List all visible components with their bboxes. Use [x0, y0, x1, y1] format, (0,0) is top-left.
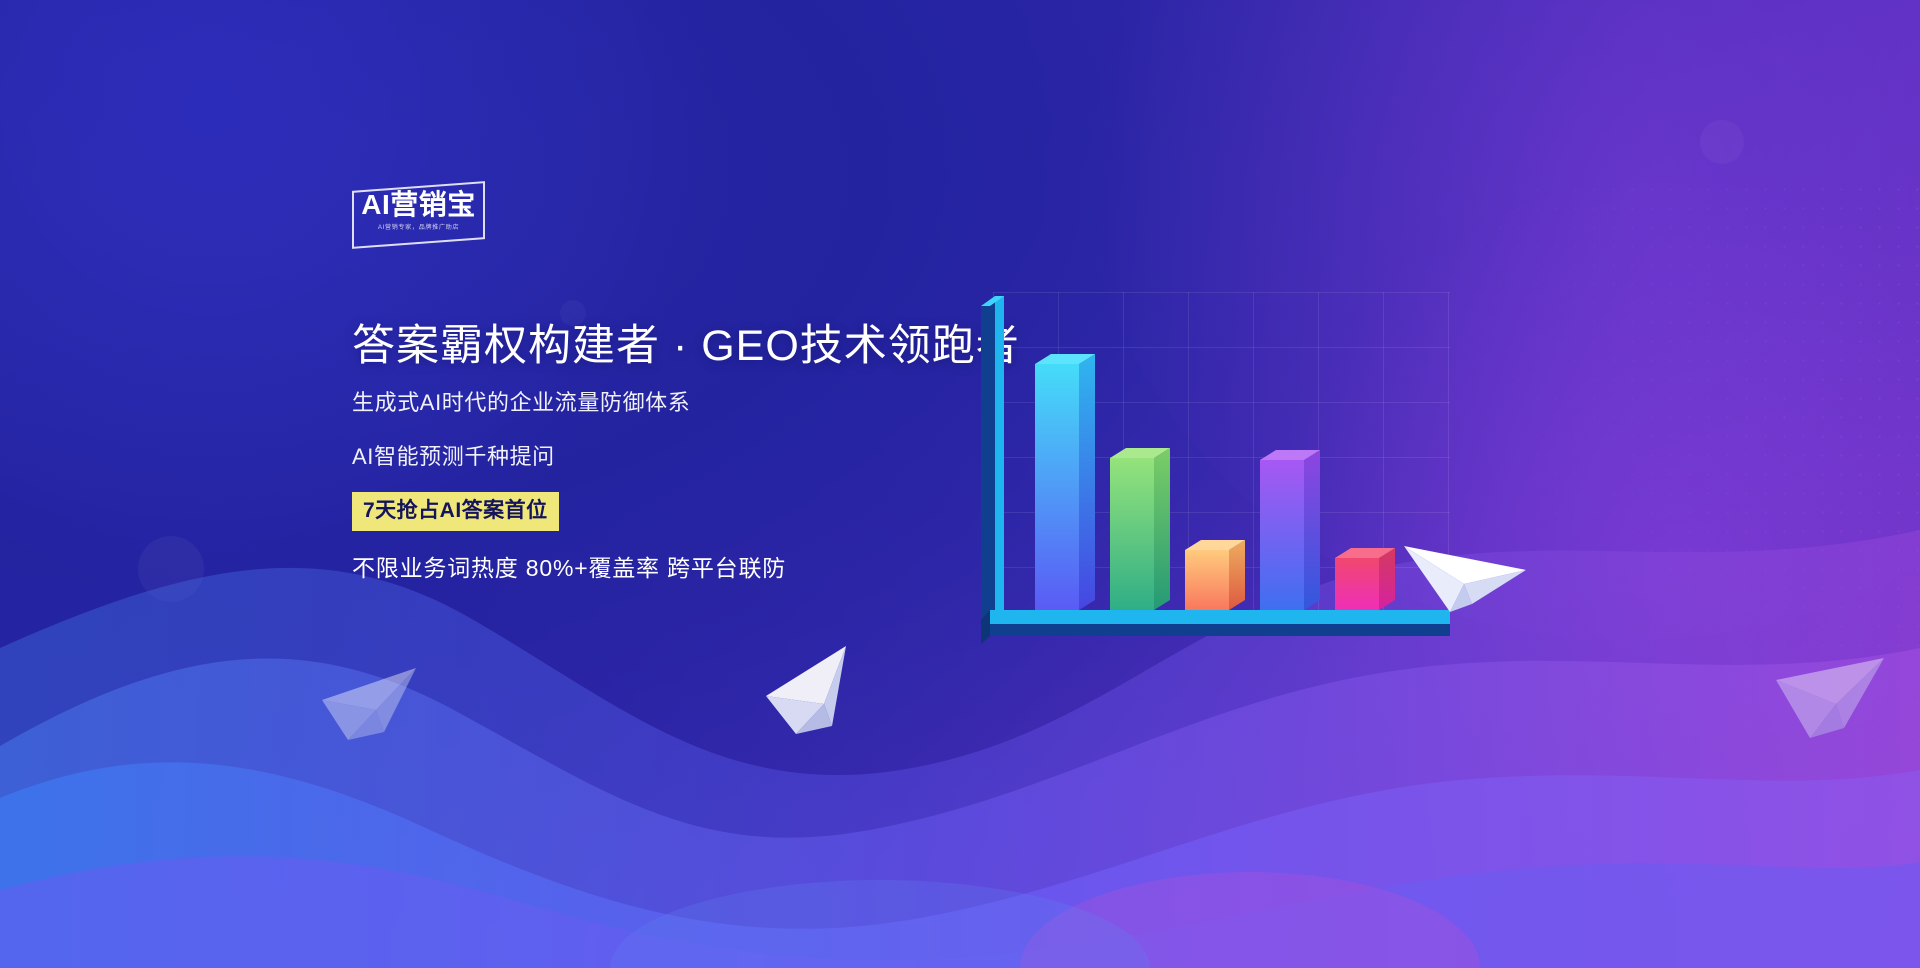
chart-baseline: [981, 610, 1450, 644]
page-title: 答案霸权构建者 · GEO技术领跑者: [352, 318, 1072, 374]
chart-bar-3: [1185, 540, 1245, 610]
paper-plane-icon: [762, 640, 890, 748]
subtitle-primary: 生成式AI时代的企业流量防御体系: [352, 388, 1072, 418]
paper-plane-icon: [318, 652, 440, 752]
decorative-circle: [1700, 120, 1744, 164]
paper-plane-icon: [1772, 648, 1898, 754]
chart-bar-2: [1110, 448, 1170, 610]
hero-copy: 答案霸权构建者 · GEO技术领跑者 生成式AI时代的企业流量防御体系 AI智能…: [352, 318, 1072, 583]
subtitle-secondary: AI智能预测千种提问: [352, 442, 1072, 472]
chart-canvas: [975, 292, 1450, 672]
logo-wordmark: AI营销宝: [358, 190, 479, 220]
highlight-badge: 7天抢占AI答案首位: [352, 492, 559, 531]
chart-bar-1: [1035, 354, 1095, 610]
chart-y-axis: [981, 296, 1004, 620]
decorative-circle: [138, 536, 204, 602]
highlight-row: 7天抢占AI答案首位: [352, 492, 1072, 531]
logo[interactable]: AI营销宝 AI营销专家，品牌推广助店: [352, 186, 485, 244]
bar-chart-illustration: [975, 292, 1450, 672]
chart-bar-5: [1335, 548, 1395, 610]
hero-banner: AI营销宝 AI营销专家，品牌推广助店 答案霸权构建者 · GEO技术领跑者 生…: [0, 0, 1920, 968]
feature-list: 不限业务词热度 80%+覆盖率 跨平台联防: [352, 553, 1072, 583]
logo-tagline: AI营销专家，品牌推广助店: [355, 223, 481, 232]
chart-bar-4: [1260, 450, 1320, 610]
